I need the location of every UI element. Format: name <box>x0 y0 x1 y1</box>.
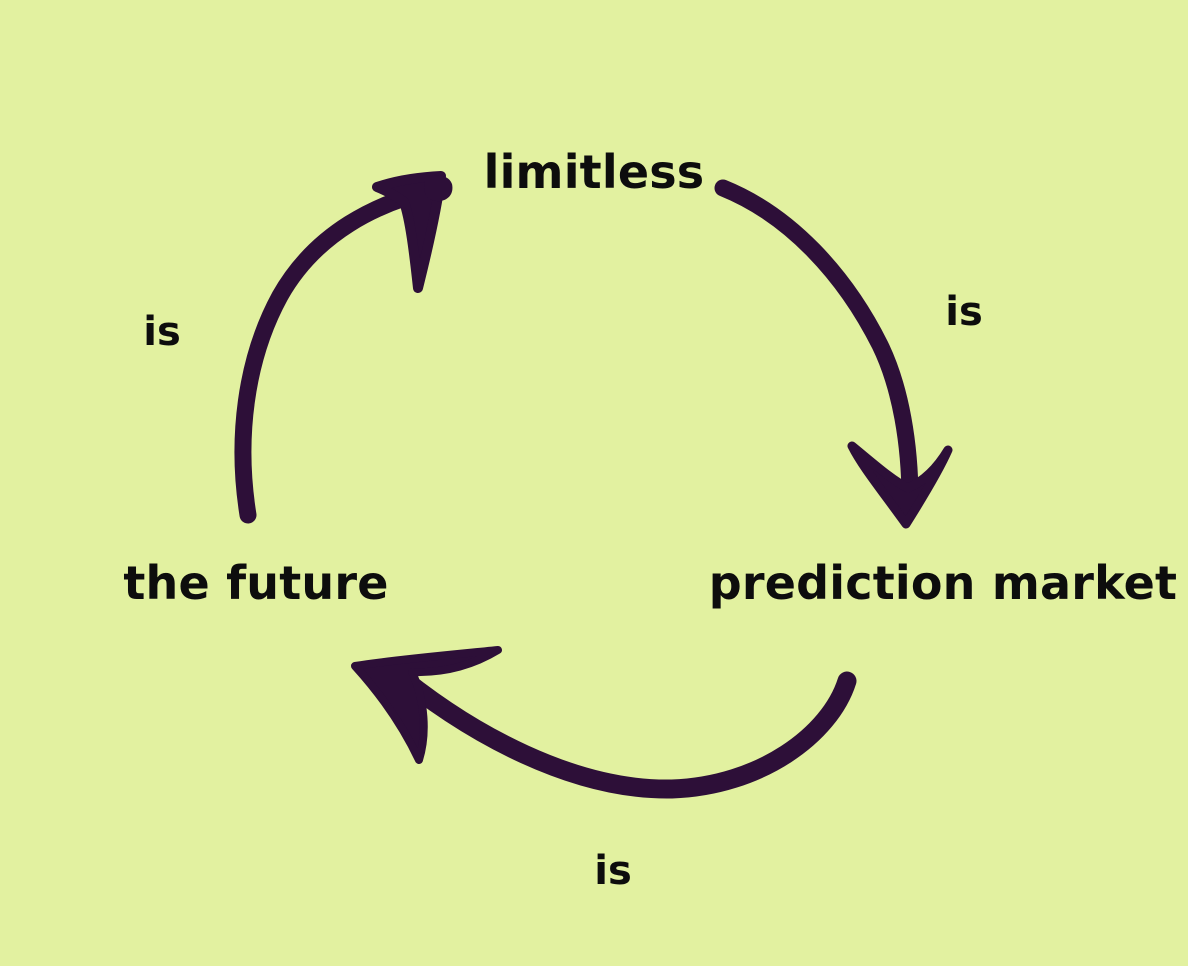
edge-label-limitless-to-prediction-market: is <box>945 292 983 332</box>
arrow-the-future-to-limitless <box>243 175 452 515</box>
diagram-canvas: limitless prediction market the future i… <box>0 0 1188 966</box>
arrow-prediction-market-to-the-future <box>355 650 847 789</box>
node-label-limitless: limitless <box>484 149 705 195</box>
edge-label-the-future-to-limitless: is <box>143 312 181 352</box>
node-label-prediction-market: prediction market <box>709 560 1178 606</box>
node-label-the-future: the future <box>123 560 388 606</box>
edge-label-prediction-market-to-the-future: is <box>594 851 632 891</box>
arrow-limitless-to-prediction-market <box>723 188 948 524</box>
